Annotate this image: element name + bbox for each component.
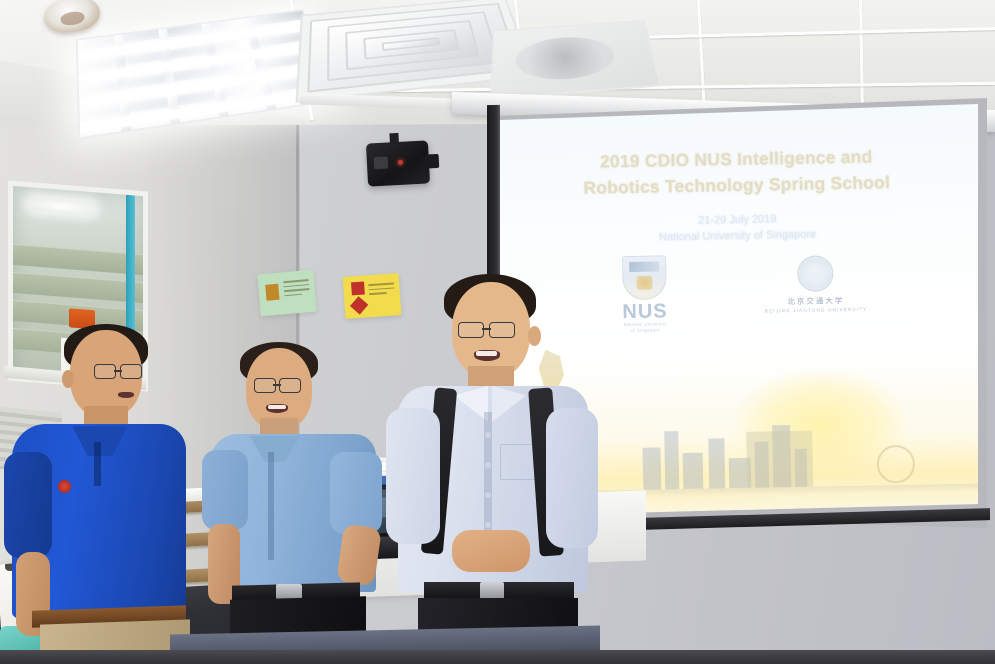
partner-university-logo: 北京交通大学 BEIJING JIAOTONG UNIVERSITY bbox=[760, 252, 871, 315]
right-sleeve bbox=[546, 408, 598, 548]
ear bbox=[62, 370, 74, 388]
person-middle bbox=[210, 348, 386, 664]
left-sleeve bbox=[386, 408, 440, 544]
left-sleeve bbox=[202, 450, 248, 530]
glasses-icon bbox=[254, 378, 310, 393]
ear bbox=[528, 326, 541, 346]
slide-title: 2019 CDIO NUS Intelligence and Robotics … bbox=[500, 142, 976, 203]
left-sleeve bbox=[4, 452, 52, 558]
classroom-photo: 2019 CDIO NUS Intelligence and Robotics … bbox=[0, 0, 995, 664]
polo-placket bbox=[94, 442, 101, 486]
nus-wordmark: NUS bbox=[607, 301, 683, 322]
glasses-icon bbox=[94, 364, 154, 380]
nus-tagline-line2: of Singapore bbox=[607, 327, 683, 334]
interior-ceiling-light bbox=[29, 197, 95, 215]
ceiling-speaker-icon bbox=[490, 20, 661, 100]
person-speaker bbox=[396, 282, 592, 664]
red-lapel-pin bbox=[58, 480, 71, 493]
sign-text-lines bbox=[283, 279, 310, 299]
sign-text-lines bbox=[368, 282, 395, 297]
marina-bay-sands-silhouette-icon bbox=[746, 431, 813, 488]
status-led-indicator bbox=[398, 160, 403, 165]
clasped-hands bbox=[452, 530, 530, 572]
mouth bbox=[118, 392, 134, 398]
nus-logo: NUS National University of Singapore bbox=[606, 255, 683, 334]
speaker-bracket bbox=[425, 154, 440, 169]
teeth bbox=[476, 351, 497, 356]
wall-speaker-icon bbox=[366, 140, 430, 186]
glasses-icon bbox=[458, 322, 524, 338]
person-left bbox=[10, 330, 200, 664]
partner-tagline: BEIJING JIAOTONG UNIVERSITY bbox=[761, 306, 871, 315]
partner-seal-icon bbox=[797, 255, 834, 292]
singapore-flyer-icon bbox=[877, 445, 916, 484]
shirt-placket bbox=[268, 452, 274, 560]
slide-subtitle: 21-29 July 2019 National University of S… bbox=[500, 208, 977, 249]
teeth bbox=[268, 405, 286, 409]
speaker-mount bbox=[389, 133, 399, 144]
baseboard bbox=[0, 650, 995, 664]
nus-crest-icon bbox=[622, 255, 667, 300]
right-sleeve bbox=[330, 452, 382, 534]
safety-sign-yellow bbox=[343, 273, 402, 319]
safety-sign-green bbox=[257, 270, 316, 317]
